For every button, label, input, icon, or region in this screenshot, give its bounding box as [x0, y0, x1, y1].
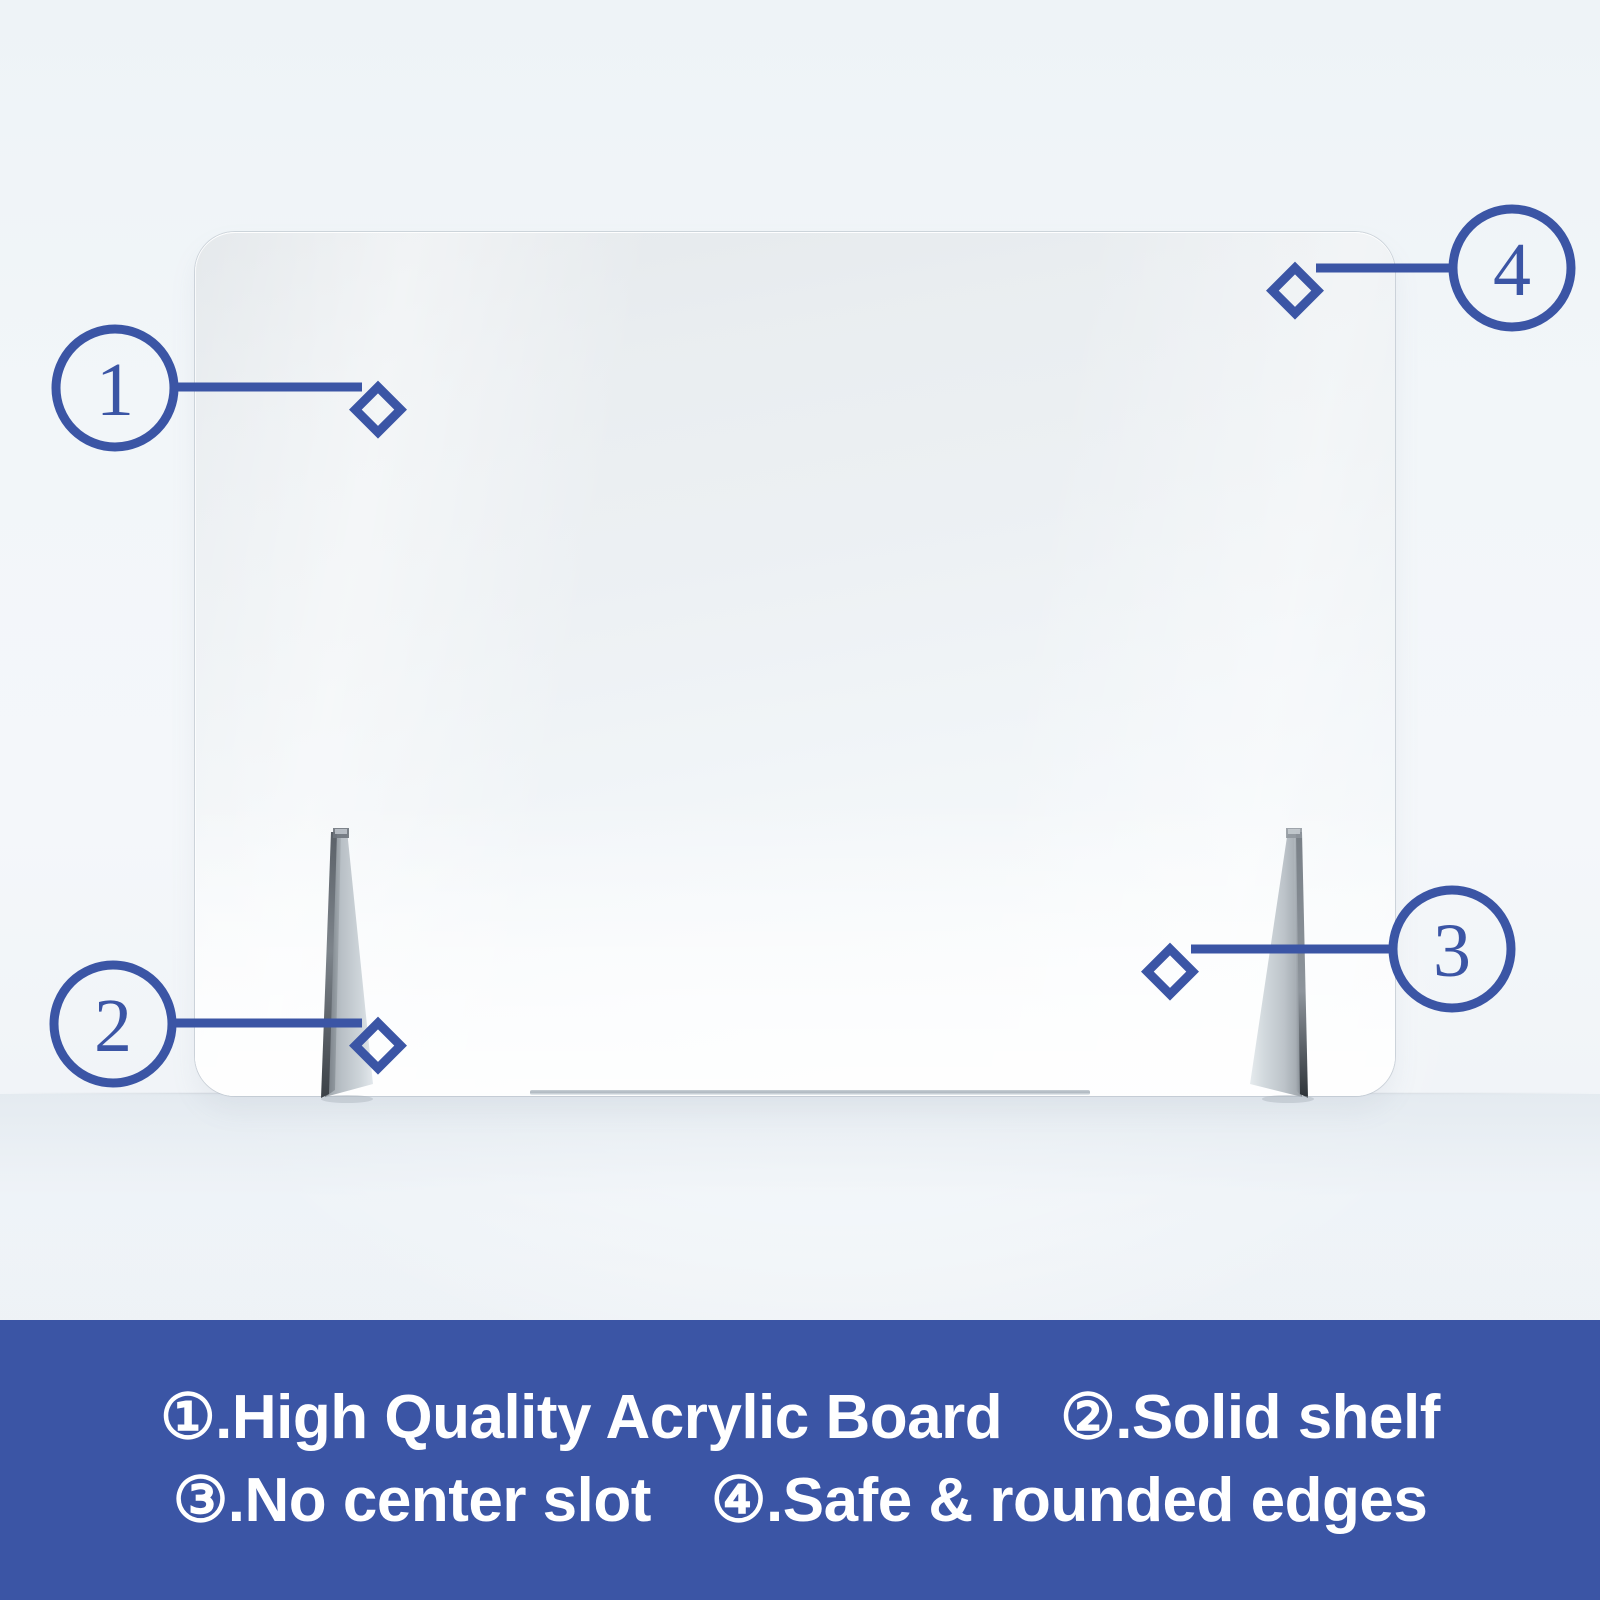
callout-2-number: 2 [94, 984, 132, 1068]
board-bottom-edge [530, 1090, 1090, 1095]
caption-feature-1: ①.High Quality Acrylic Board [160, 1385, 1002, 1452]
floor-glow [0, 1094, 1600, 1320]
left-support-shelf [295, 822, 445, 1107]
callout-4-circle [1453, 209, 1571, 327]
caption-feature-3: ③.No center slot [173, 1468, 651, 1535]
caption-feature-2: ②.Solid shelf [1060, 1385, 1440, 1452]
callout-3-number: 3 [1433, 909, 1471, 993]
right-support-shelf [1190, 822, 1340, 1107]
callout-1-number: 1 [96, 348, 134, 432]
callout-4-number: 4 [1493, 228, 1531, 312]
product-photo: 1 2 3 [0, 0, 1600, 1320]
callout-2-circle [54, 965, 172, 1083]
caption-feature-4: ④.Safe & rounded edges [711, 1468, 1427, 1535]
callout-1-circle [56, 329, 174, 447]
caption-row-2: ③.No center slot ④.Safe & rounded edges [0, 1468, 1600, 1535]
caption-row-1: ①.High Quality Acrylic Board ②.Solid she… [0, 1385, 1600, 1452]
callout-3-circle [1393, 890, 1511, 1008]
infographic-root: 1 2 3 [0, 0, 1600, 1600]
feature-caption-bar: ①.High Quality Acrylic Board ②.Solid she… [0, 1320, 1600, 1600]
